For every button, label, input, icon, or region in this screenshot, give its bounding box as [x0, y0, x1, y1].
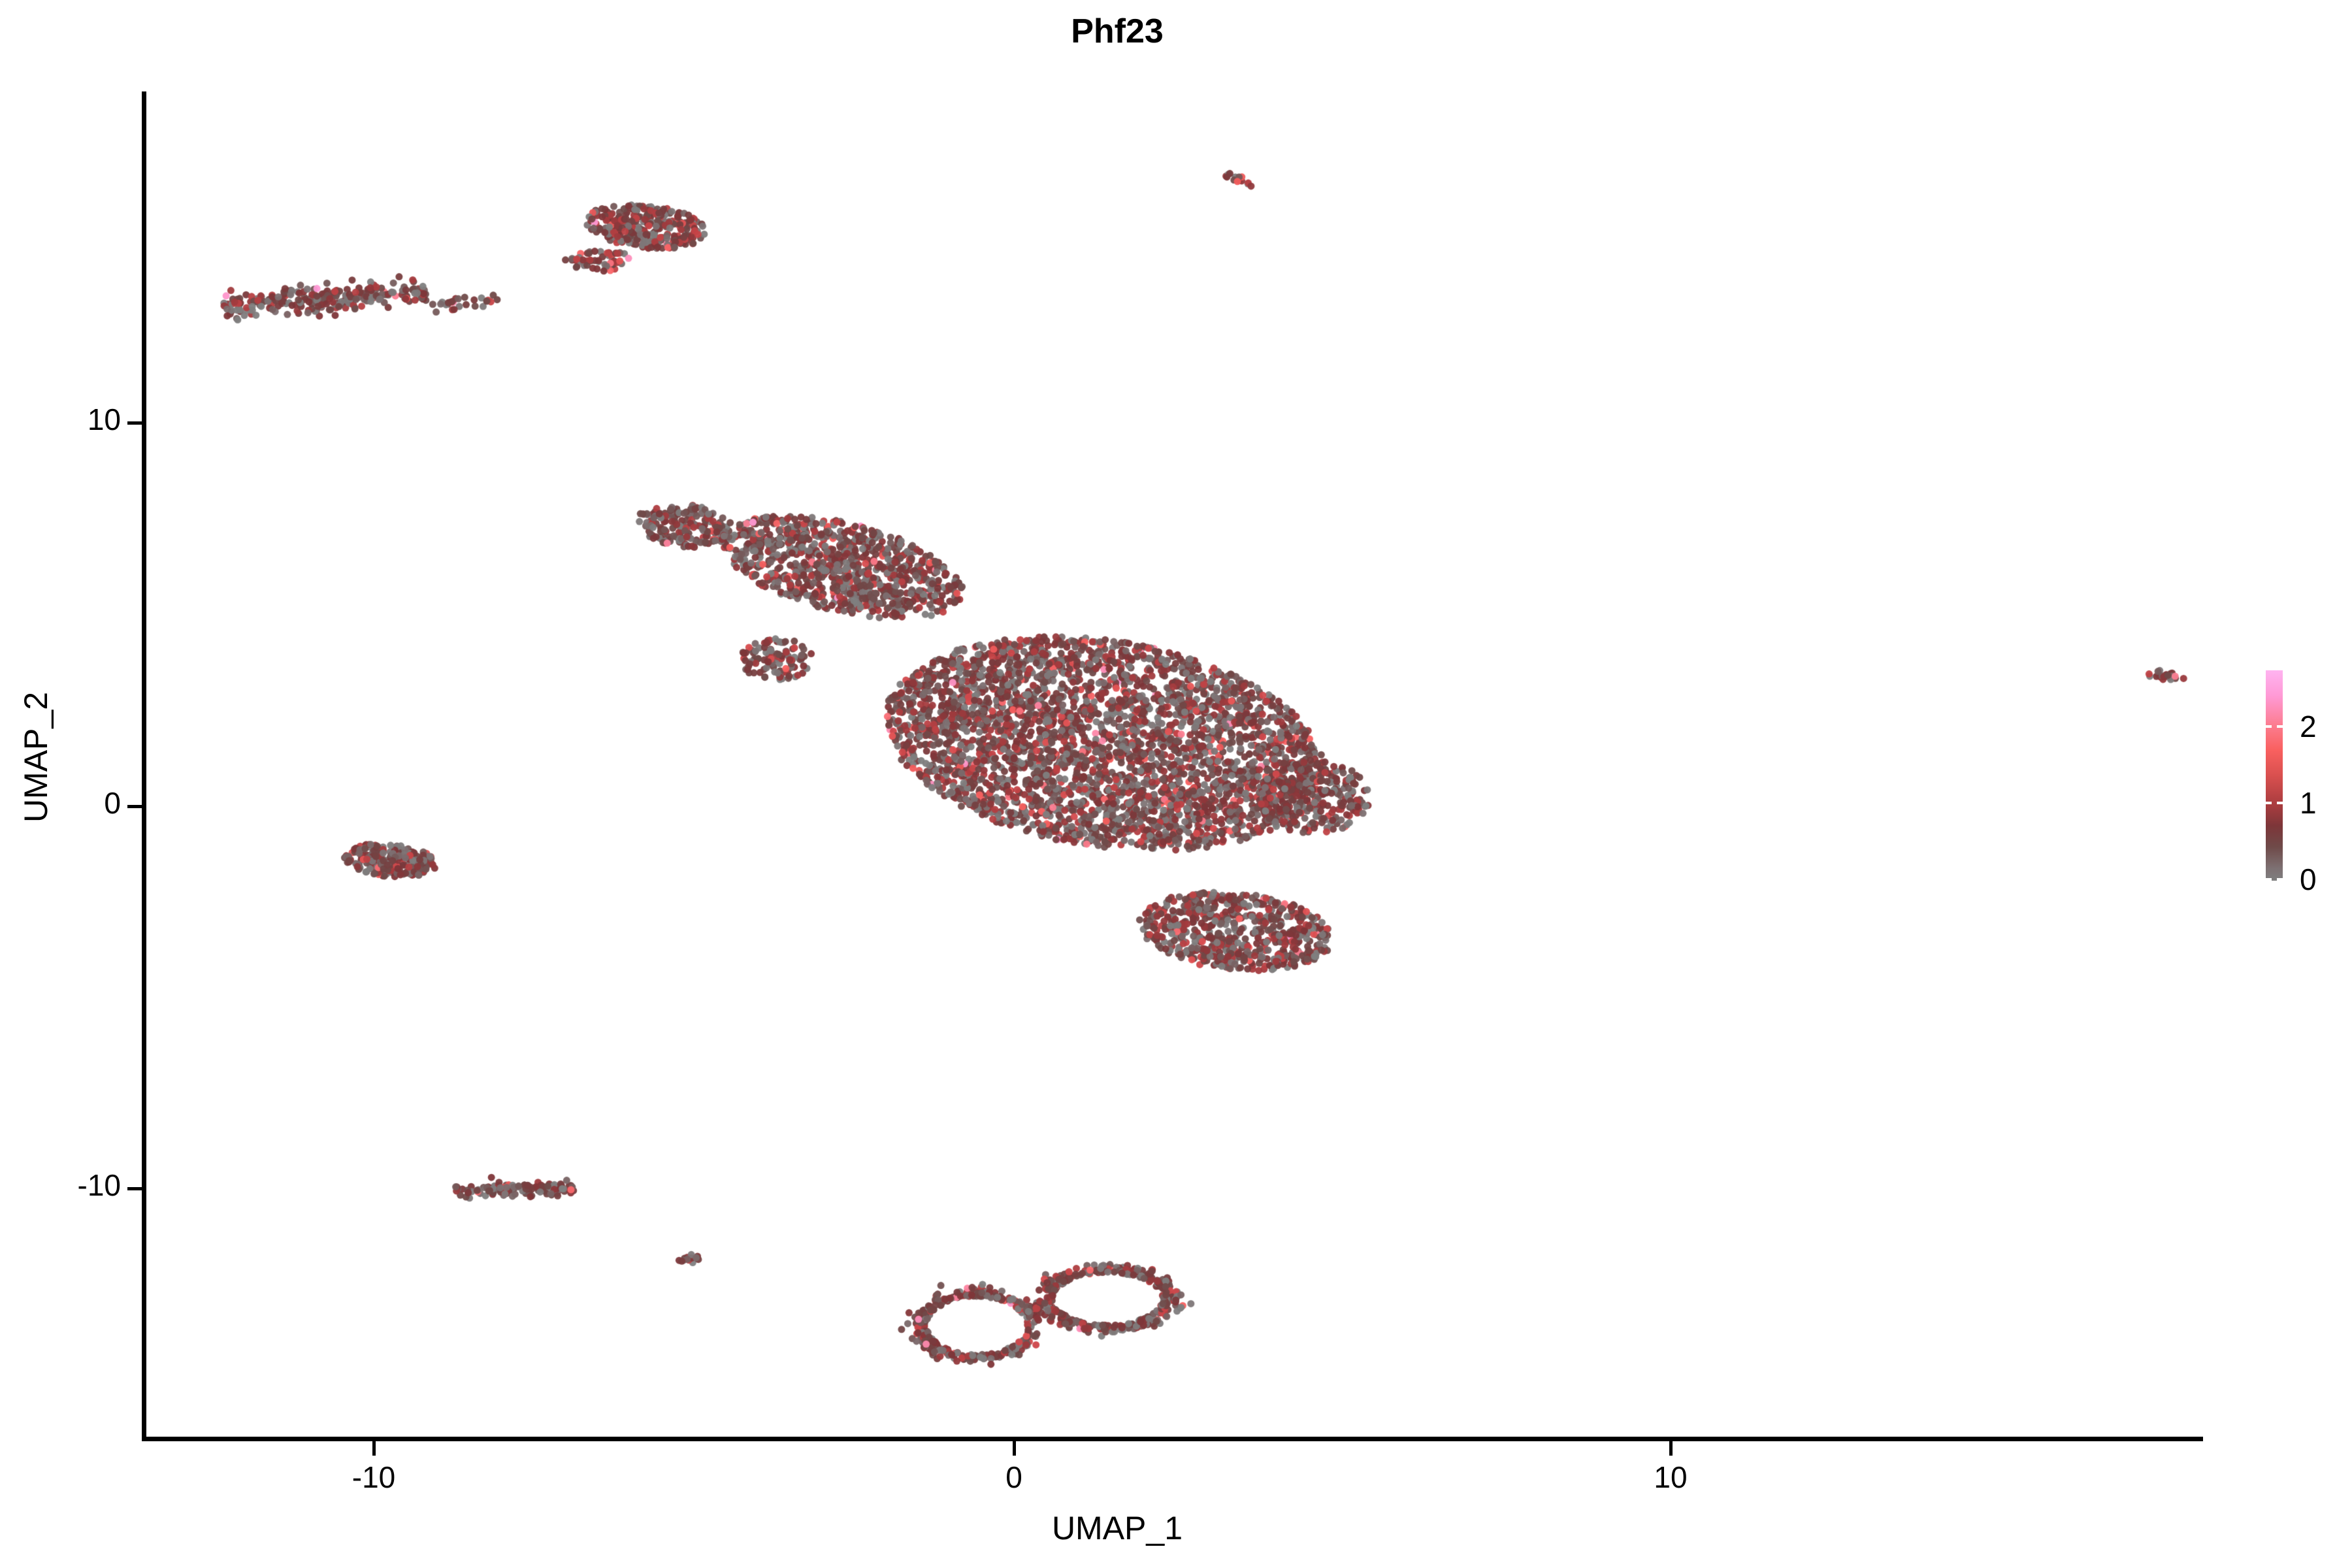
- page-title: Phf23: [0, 12, 2234, 51]
- legend-tick-label-0: 0: [2300, 862, 2317, 897]
- legend-colorbar: [2266, 670, 2283, 881]
- y-tick-label-neg10: -10: [78, 1168, 121, 1203]
- legend-tick-1-left: [2266, 802, 2272, 804]
- color-legend: 2 1 0: [2266, 670, 2344, 886]
- legend-tick-1-right: [2277, 802, 2283, 804]
- x-axis-line: [142, 1437, 2203, 1441]
- y-tick-mark-neg10: [127, 1187, 142, 1190]
- y-axis-line: [142, 91, 146, 1441]
- legend-tick-label-2: 2: [2300, 709, 2317, 744]
- umap-feature-plot: Phf23 10 0 -10 -10 0 10 UMAP_1 UMAP_2 2 …: [0, 0, 2352, 1568]
- y-tick-mark-0: [127, 805, 142, 808]
- legend-tick-label-1: 1: [2300, 785, 2317, 821]
- y-tick-label-10: 10: [88, 402, 121, 437]
- y-tick-label-0: 0: [104, 785, 121, 821]
- legend-tick-2-right: [2277, 725, 2283, 728]
- legend-tick-2-left: [2266, 725, 2272, 728]
- legend-tick-0-left: [2266, 878, 2272, 881]
- scatter-points-layer: [144, 91, 2203, 1439]
- legend-tick-0-right: [2277, 878, 2283, 881]
- x-tick-label-neg10: -10: [352, 1460, 395, 1495]
- x-tick-label-0: 0: [1005, 1460, 1022, 1495]
- y-axis-label: UMAP_2: [17, 398, 55, 1117]
- x-tick-mark-neg10: [372, 1441, 376, 1456]
- x-tick-label-10: 10: [1654, 1460, 1687, 1495]
- plot-panel: [144, 91, 2203, 1439]
- x-tick-mark-0: [1013, 1441, 1016, 1456]
- y-tick-mark-10: [127, 421, 142, 425]
- x-tick-mark-10: [1669, 1441, 1673, 1456]
- x-axis-label: UMAP_1: [0, 1509, 2234, 1547]
